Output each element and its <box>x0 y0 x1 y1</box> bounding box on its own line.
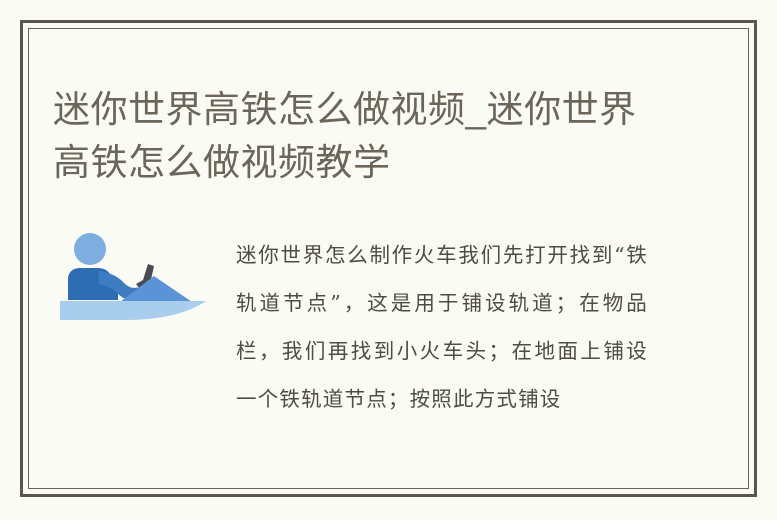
page-title: 迷你世界高铁怎么做视频_迷你世界高铁怎么做视频教学 <box>53 83 673 189</box>
article-page: 迷你世界高铁怎么做视频_迷你世界高铁怎么做视频教学 迷你世界怎么制作火车我们先打… <box>0 0 777 520</box>
article-body-text: 迷你世界怎么制作火车我们先打开找到“铁轨道节点”，这是用于铺设轨道；在物品栏，我… <box>236 231 648 423</box>
illustration-head <box>74 233 106 265</box>
article-content: 迷你世界怎么制作火车我们先打开找到“铁轨道节点”，这是用于铺设轨道；在物品栏，我… <box>53 200 673 465</box>
person-driving-boat-illustration <box>58 228 208 323</box>
illustration-hull <box>60 301 206 320</box>
